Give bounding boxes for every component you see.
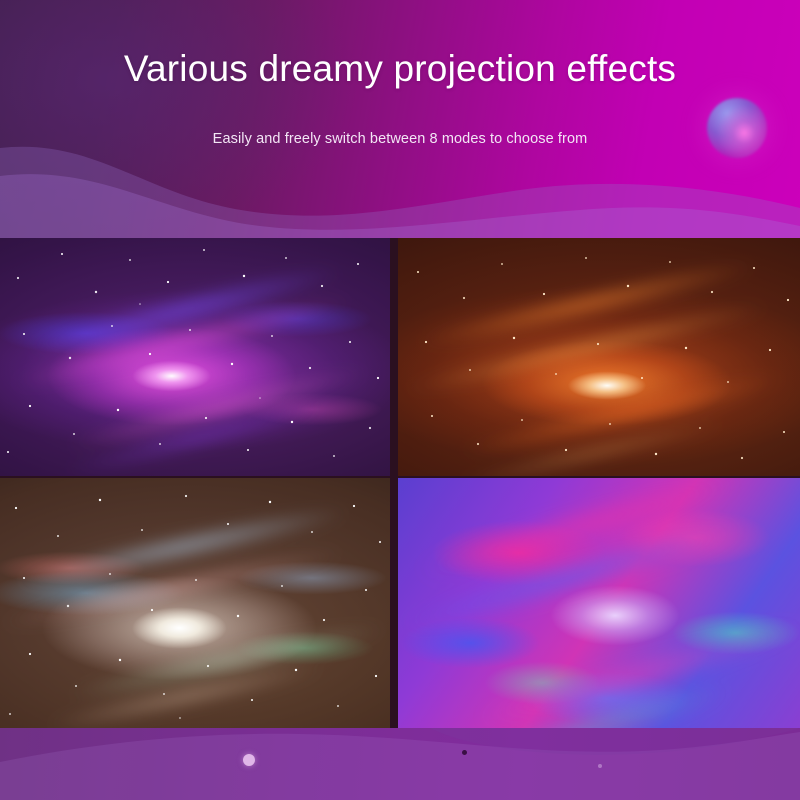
- promo-page: Various dreamy projection effects Easily…: [0, 0, 800, 800]
- galaxy-spiral-arms: [0, 478, 390, 728]
- footer-bar: [0, 728, 800, 800]
- carousel-dot-faint: [598, 764, 602, 768]
- page-title: Various dreamy projection effects: [0, 48, 800, 90]
- footer-wave-decoration: [0, 728, 800, 800]
- page-subtitle: Easily and freely switch between 8 modes…: [0, 131, 800, 147]
- gallery-item-fire-orange-galaxy[interactable]: [398, 238, 800, 476]
- carousel-dot-inactive[interactable]: [462, 750, 467, 755]
- carousel-dot-active[interactable]: [243, 754, 255, 766]
- galaxy-spiral-arms: [0, 238, 390, 476]
- galaxy-spiral-arms: [398, 238, 800, 476]
- effects-gallery-grid: [0, 238, 800, 728]
- gallery-item-aurora-swirl[interactable]: [398, 478, 800, 728]
- gallery-item-purple-nebula-galaxy[interactable]: [0, 238, 390, 476]
- gallery-item-pastel-rainbow-galaxy[interactable]: [0, 478, 390, 728]
- hero-header: Various dreamy projection effects Easily…: [0, 0, 800, 240]
- aurora-swirl-arms: [398, 478, 800, 728]
- floating-gradient-sphere-icon: [707, 98, 767, 158]
